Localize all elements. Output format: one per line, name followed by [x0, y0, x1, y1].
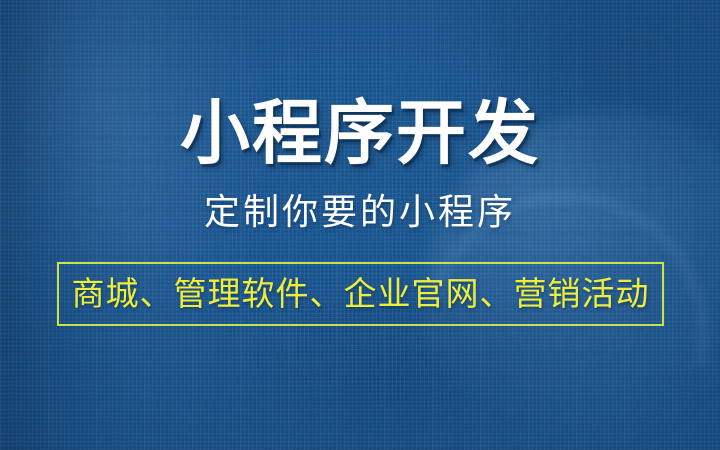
service-tagline-box: 商城、管理软件、企业官网、营销活动 [57, 262, 664, 326]
service-tagline-text: 商城、管理软件、企业官网、营销活动 [72, 276, 650, 312]
promo-banner: 小程序开发 定制你要的小程序 商城、管理软件、企业官网、营销活动 [0, 0, 720, 450]
banner-subtitle: 定制你要的小程序 [204, 192, 516, 232]
banner-content: 小程序开发 定制你要的小程序 [0, 0, 720, 450]
banner-headline: 小程序开发 [180, 96, 540, 170]
